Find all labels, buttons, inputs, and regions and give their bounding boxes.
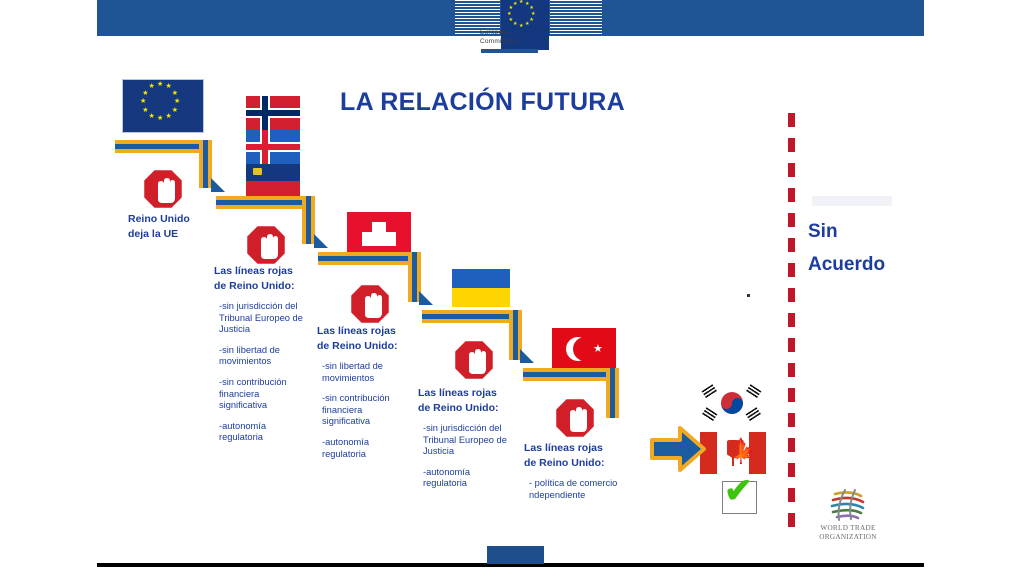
block-heading: Las líneas rojas de Reino Unido: (214, 264, 308, 294)
red-line-item: -autonomía regulatoria (418, 467, 512, 490)
eu-star-icon: ★ (149, 83, 156, 90)
ec-logo-caption: European Commission (480, 28, 570, 46)
south-korea-flag (700, 383, 762, 423)
red-line-item: -sin libertad de movimientos (317, 361, 411, 384)
heading-line2: de Reino Unido: (418, 401, 512, 416)
heading-line2: de Reino Unido: (524, 456, 618, 471)
heading-line1: Las líneas rojas (524, 441, 618, 456)
norway-flag (246, 96, 300, 130)
red-lines-block-eea: Las líneas rojas de Reino Unido: -sin ju… (214, 264, 308, 453)
red-line-item: -sin libertad de movimientos (214, 345, 308, 368)
red-line-item: -sin contribución financiera significati… (317, 393, 411, 428)
red-line-stop-icon (553, 396, 597, 440)
eu-star-icon: ★ (172, 90, 179, 97)
page-title: LA RELACIÓN FUTURA (340, 88, 625, 117)
red-line-item: - política de comercio ndependiente (524, 478, 618, 501)
wto-line2: ORGANIZATION (805, 533, 891, 542)
step-arrow-icon (314, 234, 328, 248)
switzerland-flag (347, 212, 411, 256)
red-line-stop-icon (141, 167, 185, 211)
eu-star-icon: ★ (509, 18, 514, 23)
eu-star-icon: ★ (513, 22, 518, 27)
wto-arcs-icon (805, 486, 891, 524)
ukraine-flag (452, 269, 510, 307)
background-artifact (812, 196, 892, 206)
eu-star-icon: ★ (172, 107, 179, 114)
red-lines-block-turkey: Las líneas rojas de Reino Unido: - polít… (524, 441, 618, 510)
block-heading: Las líneas rojas de Reino Unido: (317, 324, 411, 354)
step-arrow-icon (520, 349, 534, 363)
liechtenstein-flag (246, 164, 300, 198)
red-line-item: -autonomía regulatoria (214, 421, 308, 444)
uk-leaves-eu-line2: deja la UE (128, 227, 190, 242)
eu-star-icon: ★ (149, 113, 156, 120)
iceland-flag (246, 130, 300, 164)
eu-star-icon: ★ (142, 107, 149, 114)
red-line-item: -sin jurisdicción del Tribunal Europeo d… (418, 423, 512, 458)
eu-star-icon: ★ (519, 0, 524, 5)
heading-line2: de Reino Unido: (214, 279, 308, 294)
eu-flag: ★★★★★★★★★★★★ (122, 79, 204, 133)
outcome-arrow-icon (650, 424, 706, 474)
no-deal-label: Sin Acuerdo (808, 215, 885, 281)
eu-star-icon: ★ (507, 12, 512, 17)
red-line-stop-icon (452, 338, 496, 382)
block-heading: Las líneas rojas de Reino Unido: (418, 386, 512, 416)
no-deal-divider (788, 113, 795, 533)
red-line-stop-icon (244, 223, 288, 267)
heading-line2: de Reino Unido: (317, 339, 411, 354)
block-heading: Las líneas rojas de Reino Unido: (524, 441, 618, 471)
red-lines-block-ukraine: Las líneas rojas de Reino Unido: -sin ju… (418, 386, 512, 499)
eu-star-icon: ★ (525, 22, 530, 27)
eu-star-icon: ★ (509, 6, 514, 11)
heading-line1: Las líneas rojas (418, 386, 512, 401)
heading-line1: Las líneas rojas (317, 324, 411, 339)
no-deal-line2: Acuerdo (808, 248, 885, 281)
wto-line1: WORLD TRADE (805, 524, 891, 533)
eu-star-icon: ★ (513, 2, 518, 7)
red-line-item: -sin jurisdicción del Tribunal Europeo d… (214, 301, 308, 336)
turkey-flag: ★ (552, 328, 616, 370)
eu-star-icon: ★ (174, 98, 181, 105)
canada-flag: 🍁 (700, 432, 766, 474)
ec-logo-underline (481, 49, 538, 53)
ec-caption-line1: European (480, 28, 570, 37)
no-deal-line1: Sin (808, 215, 885, 248)
step-arrow-icon (211, 178, 225, 192)
red-line-item: -autonomía regulatoria (317, 437, 411, 460)
red-line-stop-icon (348, 282, 392, 326)
eu-star-icon: ★ (157, 115, 164, 122)
uk-leaves-eu-label: Reino Unido deja la UE (128, 212, 190, 242)
eu-star-icon: ★ (140, 98, 147, 105)
heading-line1: Las líneas rojas (214, 264, 308, 279)
eu-star-icon: ★ (529, 18, 534, 23)
eu-star-icon: ★ (166, 113, 173, 120)
uk-leaves-eu-line1: Reino Unido (128, 212, 190, 227)
red-lines-block-switzerland: Las líneas rojas de Reino Unido: -sin li… (317, 324, 411, 469)
step-arrow-icon (419, 291, 433, 305)
wto-logo-text: WORLD TRADE ORGANIZATION (805, 524, 891, 542)
wto-logo: WORLD TRADE ORGANIZATION (805, 486, 891, 546)
stray-dot-artifact (747, 294, 750, 297)
ec-caption-line2: Commission (480, 37, 570, 46)
green-check-icon: ✔ (724, 474, 753, 508)
red-line-item: -sin contribución financiera significati… (214, 377, 308, 412)
eu-stars-circle-icon: ★★★★★★★★★★★★ (123, 80, 203, 132)
eu-star-icon: ★ (142, 90, 149, 97)
footer-tab (487, 546, 544, 564)
eu-star-icon: ★ (157, 81, 164, 88)
